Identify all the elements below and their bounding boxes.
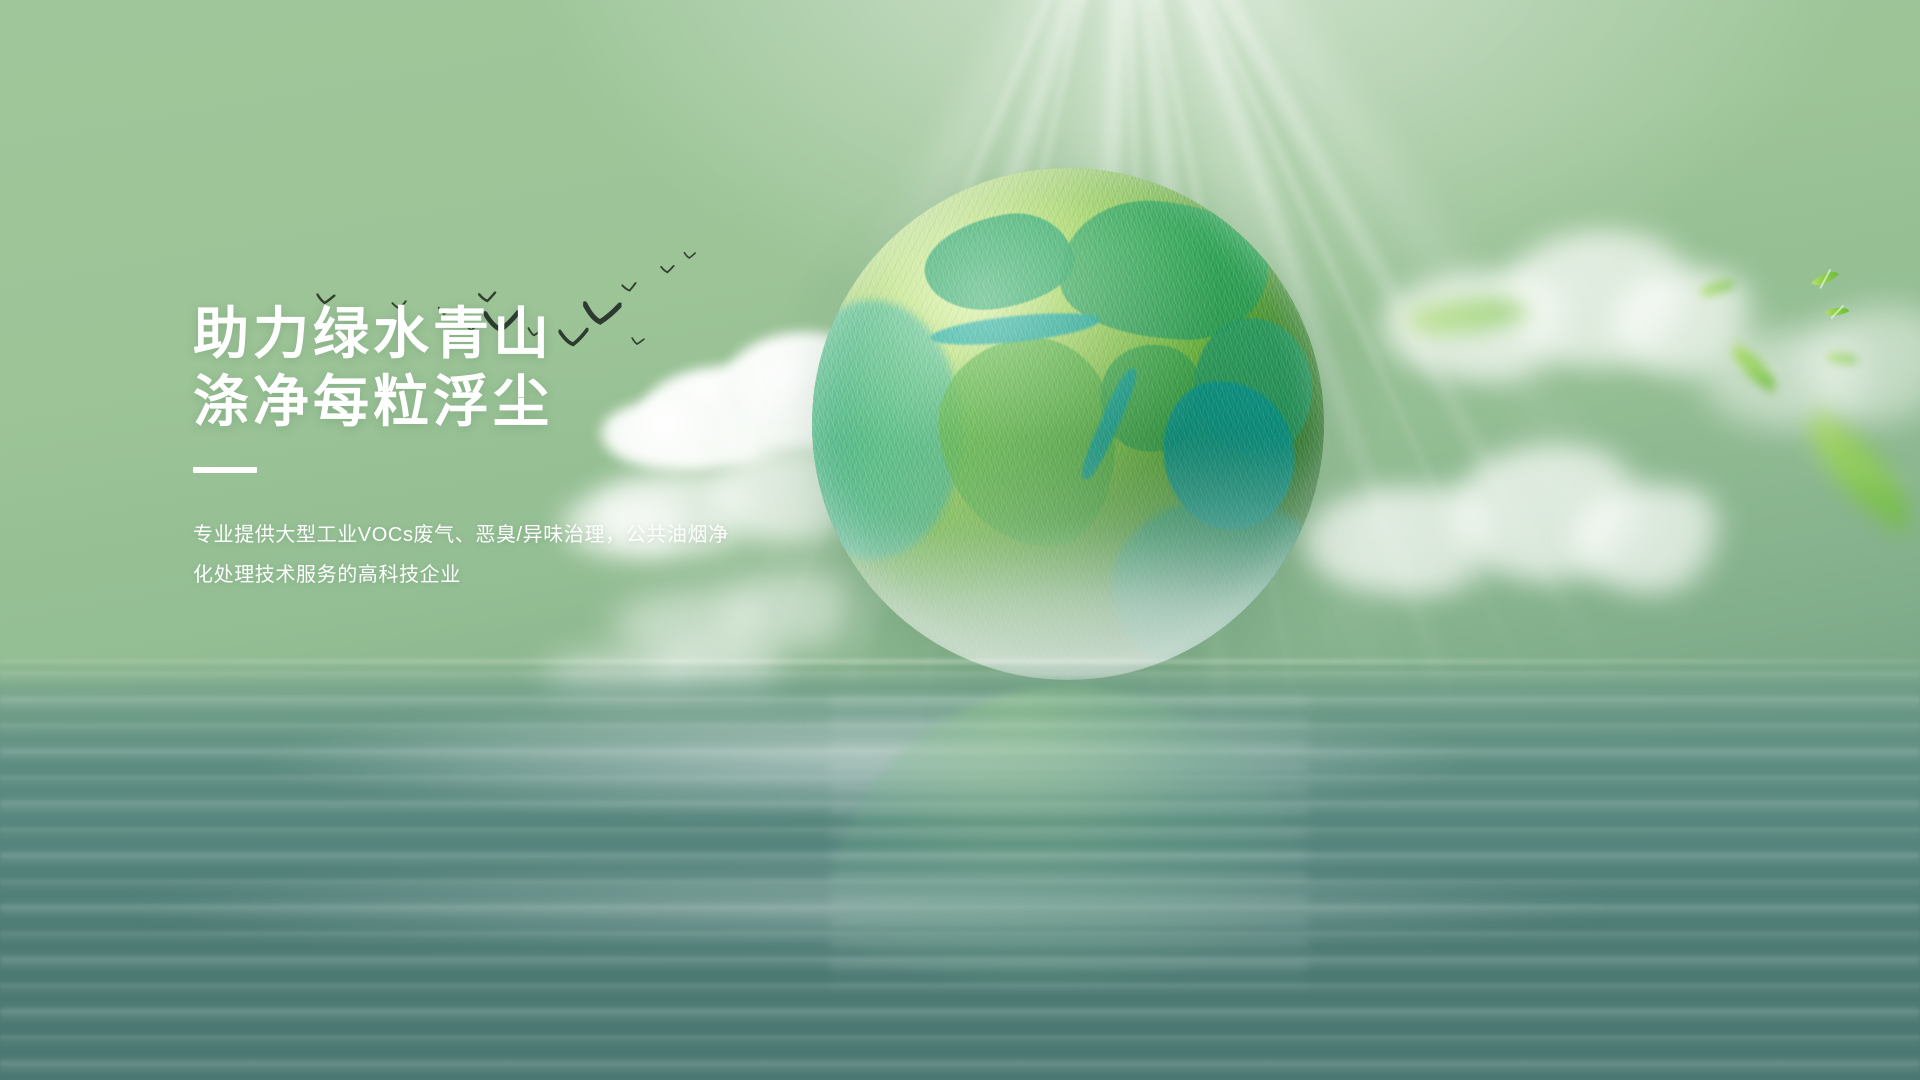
leaf-icon-1 bbox=[1699, 271, 1736, 305]
globe-reflection-ripples bbox=[830, 686, 1308, 986]
leaf-icon-4 bbox=[1825, 301, 1850, 321]
cloud-right-lower bbox=[1280, 430, 1700, 610]
hero-banner: 助力绿水青山 涤净每粒浮尘 专业提供大型工业VOCs废气、恶臭/异味治理，公共油… bbox=[0, 0, 1920, 1080]
subtitle-line-2: 化处理技术服务的高科技企业 bbox=[193, 555, 733, 595]
bird-icon-13 bbox=[683, 252, 696, 260]
headline-line-2: 涤净每粒浮尘 bbox=[193, 368, 913, 436]
globe-reflection bbox=[830, 686, 1308, 986]
headline-line-1: 助力绿水青山 bbox=[193, 300, 913, 368]
leaf-icon-2 bbox=[1811, 265, 1839, 292]
leaf-icon-3 bbox=[1826, 349, 1858, 369]
leaf-icon-5 bbox=[1722, 343, 1785, 393]
cloud-right-main bbox=[1350, 220, 1750, 400]
bird-icon-10 bbox=[621, 282, 638, 294]
hero-copy: 助力绿水青山 涤净每粒浮尘 专业提供大型工业VOCs废气、恶臭/异味治理，公共油… bbox=[193, 300, 913, 595]
leaf-icon-7 bbox=[1401, 271, 1530, 360]
subtitle: 专业提供大型工业VOCs废气、恶臭/异味治理，公共油烟净 化处理技术服务的高科技… bbox=[193, 515, 733, 595]
leaf-icon-6 bbox=[1783, 409, 1920, 534]
cloud-far-right bbox=[1680, 300, 1920, 450]
subtitle-line-1: 专业提供大型工业VOCs废气、恶臭/异味治理，公共油烟净 bbox=[193, 515, 733, 555]
headline-rule bbox=[193, 467, 257, 473]
bird-icon-12 bbox=[660, 265, 676, 275]
